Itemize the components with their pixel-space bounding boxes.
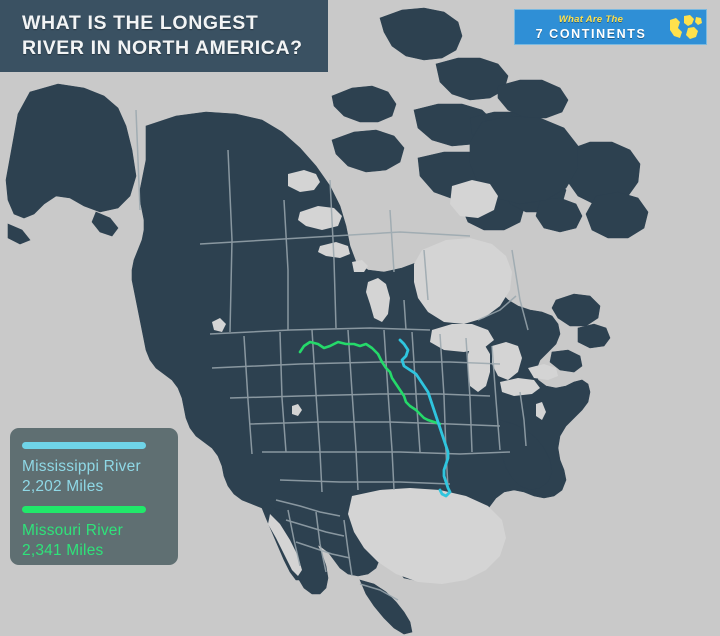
mississippi-river-name: Mississippi River bbox=[22, 457, 178, 477]
site-logo-text: What Are The 7 CONTINENTS bbox=[515, 10, 667, 44]
globe-icon bbox=[664, 10, 704, 44]
missouri-river-name: Missouri River bbox=[22, 521, 178, 541]
page-title-line-1: WHAT IS THE LONGEST bbox=[22, 11, 314, 36]
legend-item-missouri: Missouri River 2,341 Miles bbox=[22, 506, 178, 561]
site-logo-tagline: What Are The bbox=[515, 13, 667, 27]
page-title-line-2: RIVER IN NORTH AMERICA? bbox=[22, 36, 314, 61]
mississippi-swatch-icon bbox=[22, 442, 146, 449]
missouri-swatch-icon bbox=[22, 506, 146, 513]
site-logo-name: 7 CONTINENTS bbox=[515, 27, 667, 42]
mississippi-river-distance: 2,202 Miles bbox=[22, 477, 178, 497]
missouri-river-distance: 2,341 Miles bbox=[22, 541, 178, 561]
site-logo[interactable]: What Are The 7 CONTINENTS bbox=[514, 9, 707, 45]
screenshot-root: WHAT IS THE LONGEST RIVER IN NORTH AMERI… bbox=[0, 0, 720, 636]
legend-item-mississippi: Mississippi River 2,202 Miles bbox=[22, 442, 178, 497]
page-title-banner: WHAT IS THE LONGEST RIVER IN NORTH AMERI… bbox=[0, 0, 328, 72]
river-legend: Mississippi River 2,202 Miles Missouri R… bbox=[10, 428, 178, 565]
